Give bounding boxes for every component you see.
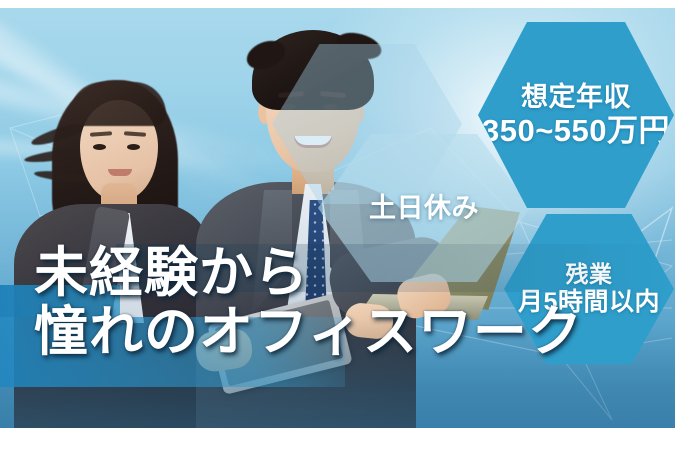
woman-eye xyxy=(127,144,140,150)
job-ad-banner: 土日休み 想定年収 350~550万円 残業 月5時間以内 未経験から 憧れのオ… xyxy=(0,0,675,450)
badge-holiday-line1: 土日休み xyxy=(369,193,479,223)
badge-holiday-text: 土日休み xyxy=(369,193,479,223)
badge-salary-text: 想定年収 350~550万円 xyxy=(482,82,670,149)
headline-line1: 未経験から xyxy=(34,246,583,301)
headline: 未経験から 憧れのオフィスワーク xyxy=(34,246,583,360)
badge-salary-line1: 想定年収 xyxy=(482,82,670,112)
woman-mouth xyxy=(108,169,132,176)
top-letterbox-strip xyxy=(0,0,675,8)
bottom-letterbox-strip xyxy=(0,428,675,450)
photo-stage: 土日休み 想定年収 350~550万円 残業 月5時間以内 未経験から 憧れのオ… xyxy=(0,8,675,428)
headline-line2: 憧れのオフィスワーク xyxy=(34,305,583,360)
woman-hair-front xyxy=(70,82,166,126)
badge-salary-line2: 350~550万円 xyxy=(482,114,670,149)
woman-eye xyxy=(93,144,106,150)
